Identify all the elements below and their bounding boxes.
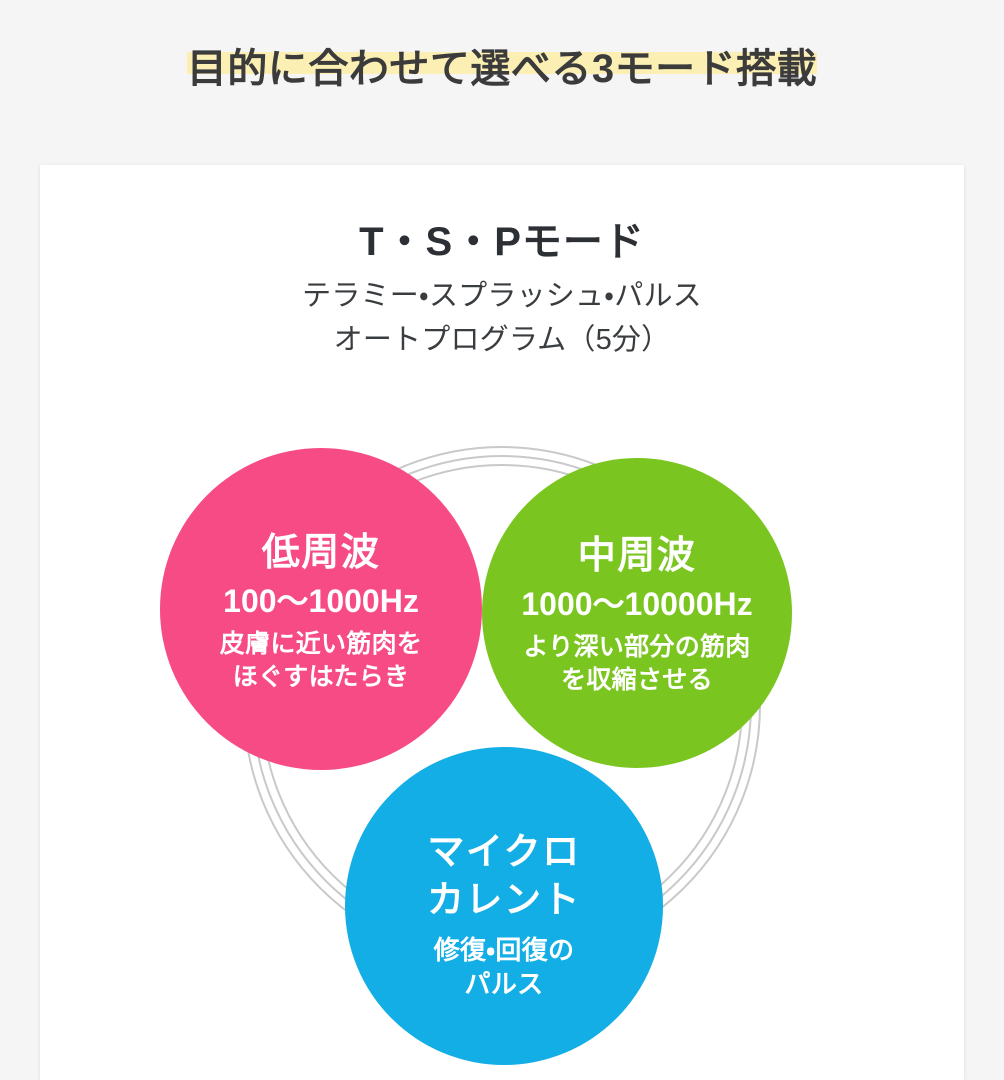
page-title: 目的に合わせて選べる3モード搭載 [187, 43, 817, 95]
mode-desc-line2: パルス [465, 969, 544, 999]
mode-range-mid-frequency: 1000〜10000Hz [521, 585, 752, 623]
venn-diagram: 低周波 100〜1000Hz 皮膚に近い筋肉を ほぐすはたらき 中周波 1000… [40, 165, 964, 1080]
mode-name-line2: カレント [427, 879, 581, 920]
mode-name-mid-frequency: 中周波 [578, 534, 697, 579]
mode-bubble-low-frequency[interactable]: 低周波 100〜1000Hz 皮膚に近い筋肉を ほぐすはたらき [160, 448, 482, 770]
page-header: 目的に合わせて選べる3モード搭載 [0, 0, 1004, 148]
mode-bubble-mid-frequency[interactable]: 中周波 1000〜10000Hz より深い部分の筋肉 を収縮させる [482, 458, 792, 768]
mode-bubble-micro-current[interactable]: マイクロ カレント 修復・回復の パルス [345, 747, 663, 1065]
page-title-wrap: 目的に合わせて選べる3モード搭載 [181, 16, 823, 122]
mode-desc-line2: を収縮させる [561, 666, 713, 694]
mode-desc-line1: より深い部分の筋肉 [523, 633, 750, 661]
mode-card: T・S・Pモード テラミー・スプラッシュ・パルス オートプログラム（5分） 低周… [40, 165, 964, 1080]
mode-range-low-frequency: 100〜1000Hz [223, 582, 419, 620]
mode-desc-low-frequency: 皮膚に近い筋肉を ほぐすはたらき [220, 628, 422, 693]
mode-name-low-frequency: 低周波 [262, 531, 381, 576]
mode-name-line1: マイクロ [427, 831, 580, 872]
mode-desc-line1: 修復・回復の [434, 935, 575, 965]
mode-desc-line1: 皮膚に近い筋肉を [220, 630, 422, 658]
mode-name-micro-current: マイクロ カレント [427, 828, 581, 924]
mode-desc-micro-current: 修復・回復の パルス [434, 934, 575, 1002]
mode-desc-line2: ほぐすはたらき [233, 663, 410, 691]
mode-desc-mid-frequency: より深い部分の筋肉 を収縮させる [523, 631, 750, 696]
